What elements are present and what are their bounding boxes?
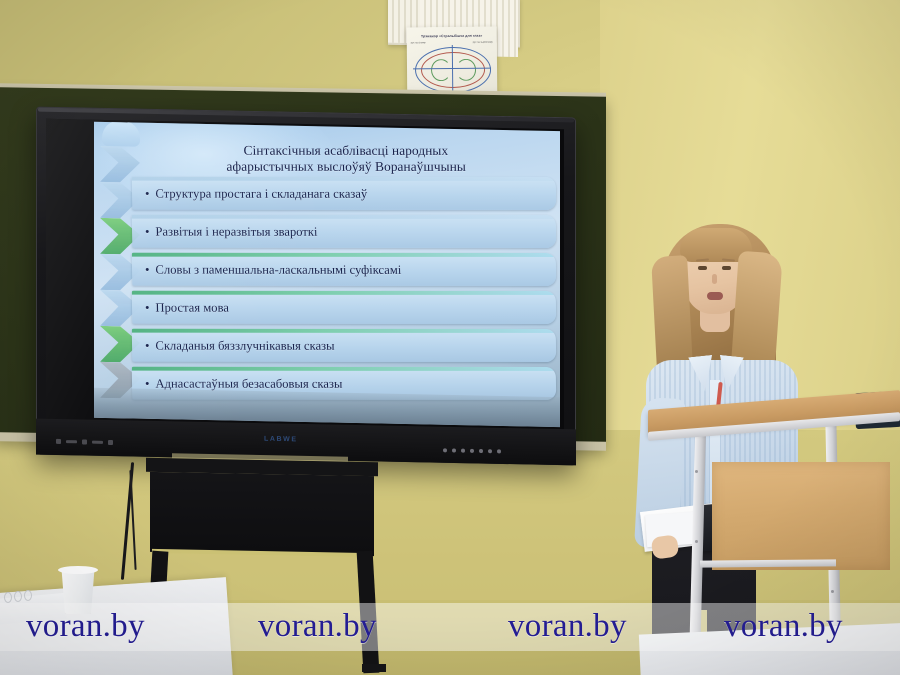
slide-bullet-row: •Развітыя і неразвітыя звароткі	[132, 215, 557, 248]
display-stand-foot-right	[362, 664, 386, 672]
slide-title: Сінтаксічныя асаблівасці народных афарыс…	[142, 143, 551, 174]
bullet-dot-icon: •	[145, 222, 150, 242]
port-indicator	[497, 449, 501, 453]
bullet-dot-icon: •	[145, 298, 150, 318]
control-button-extra[interactable]	[108, 439, 113, 444]
control-button-power[interactable]	[56, 438, 61, 443]
port-indicator	[479, 449, 483, 453]
poster-arc-green-left	[431, 59, 451, 81]
row-accent-edge	[132, 291, 556, 295]
screenshot-root: Трэнажор «Стральбішча для глаз» рух па с…	[0, 0, 900, 675]
bullet-label: Складаныя бяззлучнікавыя сказы	[155, 339, 334, 353]
slide-title-line-2: афарыстычных выслоўяў Воранаўшчыны	[142, 158, 550, 174]
port-indicator	[452, 448, 456, 452]
eye-left	[698, 266, 707, 270]
notebook-spiral-ring	[4, 592, 12, 603]
slide-bullet-row: •Структура простага і складанага сказаў	[132, 177, 557, 210]
notebook-spiral-ring	[24, 590, 32, 601]
slide-title-line-1: Сінтаксічныя асаблівасці народных	[142, 143, 550, 159]
display-screen[interactable]: Сінтаксічныя асаблівасці народных афарыс…	[46, 119, 564, 431]
slide-bullet-text: •Складаныя бяззлучнікавыя сказы	[145, 336, 550, 356]
bullet-label: Развітыя і неразвітыя звароткі	[155, 225, 317, 239]
plastic-cup-rim	[58, 566, 98, 574]
notebook-spiral-ring	[14, 591, 22, 602]
bullet-label: Простая мова	[155, 301, 229, 315]
podium-screw	[695, 540, 698, 543]
row-accent-edge	[132, 253, 556, 257]
watermark: voran.by	[508, 608, 627, 645]
control-button-source[interactable]	[82, 439, 87, 444]
control-button-menu[interactable]	[66, 440, 77, 443]
row-accent-edge	[132, 215, 556, 219]
podium-screw	[831, 590, 834, 593]
slide-bullet-text: •Развітыя і неразвітыя звароткі	[145, 222, 550, 242]
poster-title: Трэнажор «Стральбішча для глаз»	[407, 34, 497, 39]
row-accent-edge	[132, 367, 556, 371]
row-accent-edge	[132, 177, 556, 181]
poster-arc-green-right	[456, 59, 476, 81]
bullet-label: Словы з паменшальна-ласкальнымі суфіксам…	[155, 263, 401, 277]
display-stand-panel	[150, 472, 374, 556]
slide-bullet-row: •Словы з паменшальна-ласкальнымі суфікса…	[132, 253, 557, 286]
presentation-slide: Сінтаксічныя асаблівасці народных афарыс…	[94, 122, 560, 427]
poster-note-top-left: рух па сіняму	[411, 41, 426, 44]
bullet-dot-icon: •	[145, 336, 150, 356]
podium-screw	[695, 470, 698, 473]
bullet-label: Структура простага і складанага сказаў	[155, 187, 367, 201]
watermark: voran.by	[258, 608, 377, 645]
nose	[712, 274, 717, 284]
slide-bullet-text: •Словы з паменшальна-ласкальнымі суфікса…	[145, 260, 550, 280]
slide-bullet-row: •Складаныя бяззлучнікавыя сказы	[132, 329, 557, 362]
watermark: voran.by	[724, 608, 843, 645]
slide-bullet-row: •Простая мова	[132, 291, 557, 324]
port-indicator	[461, 449, 465, 453]
bullet-dot-icon: •	[145, 260, 150, 280]
podium-brace	[700, 559, 836, 567]
row-accent-edge	[132, 329, 556, 333]
slide-bullet-list: •Структура простага і складанага сказаў …	[132, 173, 556, 410]
bullet-dot-icon: •	[145, 184, 150, 204]
chevron-cap	[102, 122, 140, 147]
eye-right	[722, 266, 731, 270]
podium-front-panel	[712, 462, 890, 570]
port-indicator	[470, 449, 474, 453]
mouth	[707, 292, 723, 300]
slide-bullet-text: •Структура простага і складанага сказаў	[145, 184, 550, 204]
poster-note-top-right: рух па чырвонаму	[473, 41, 493, 44]
port-indicator	[443, 448, 447, 452]
display-brand-logo: LABWE	[264, 436, 298, 444]
control-button-volume[interactable]	[92, 440, 103, 443]
watermark: voran.by	[26, 608, 145, 645]
poster-diagram	[413, 43, 492, 96]
port-indicator	[488, 449, 492, 453]
slide-bullet-text: •Простая мова	[145, 298, 550, 318]
